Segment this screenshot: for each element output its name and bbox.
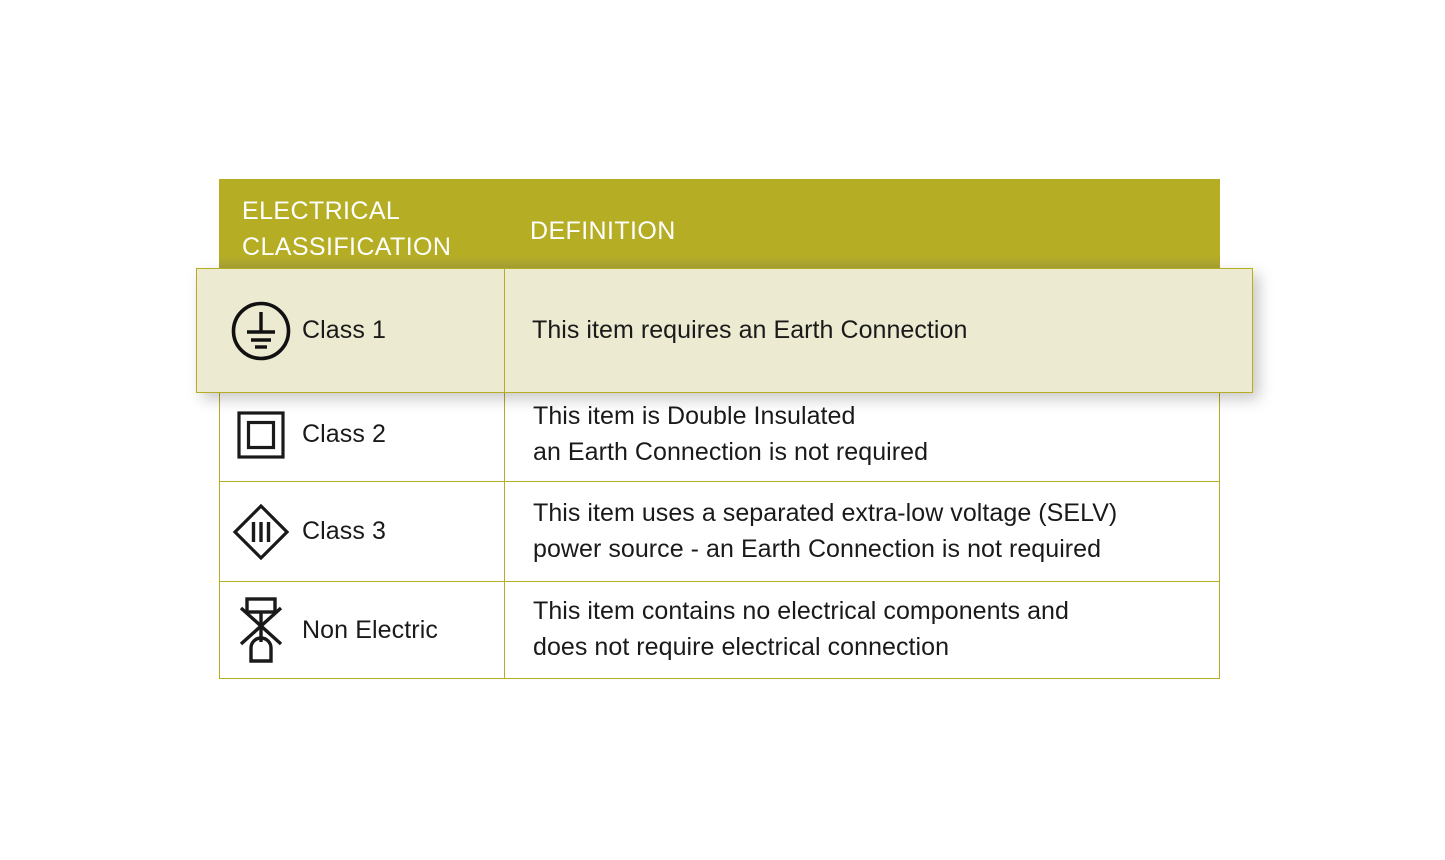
definition-text: This item is Double Insulated an Earth C… xyxy=(533,399,928,471)
classification-label: Class 2 xyxy=(302,420,386,449)
cell-definition: This item uses a separated extra-low vol… xyxy=(505,482,1219,581)
table-row-highlighted[interactable]: Class 1 This item requires an Earth Conn… xyxy=(196,268,1253,393)
cell-classification: Non Electric xyxy=(220,582,505,678)
non-electric-crossed-plug-icon xyxy=(220,596,302,664)
classification-label: Class 3 xyxy=(302,517,386,546)
table-header-row: ELECTRICAL CLASSIFICATION DEFINITION xyxy=(219,179,1220,268)
table-row[interactable]: Non Electric This item contains no elect… xyxy=(220,582,1219,678)
column-header-definition: DEFINITION xyxy=(530,213,676,249)
cell-definition: This item contains no electrical compone… xyxy=(505,582,1219,678)
column-header-classification: ELECTRICAL CLASSIFICATION xyxy=(242,193,451,265)
definition-text: This item contains no electrical compone… xyxy=(533,594,1069,666)
cell-classification: Class 3 xyxy=(220,482,505,581)
double-square-insulated-icon xyxy=(220,410,302,460)
cell-definition: This item is Double Insulated an Earth C… xyxy=(505,388,1219,481)
earth-ground-circle-icon xyxy=(220,300,302,362)
definition-text: This item uses a separated extra-low vol… xyxy=(533,496,1117,568)
diamond-three-bars-icon xyxy=(220,503,302,561)
electrical-classification-table: ELECTRICAL CLASSIFICATION DEFINITION Cla… xyxy=(219,179,1220,679)
table-row[interactable]: Class 2 This item is Double Insulated an… xyxy=(220,388,1219,482)
definition-text: This item requires an Earth Connection xyxy=(532,313,967,349)
cell-classification: Class 2 xyxy=(220,388,505,481)
table-row[interactable]: Class 3 This item uses a separated extra… xyxy=(220,482,1219,582)
classification-label: Non Electric xyxy=(302,616,438,645)
cell-definition: This item requires an Earth Connection xyxy=(505,269,1252,392)
classification-label: Class 1 xyxy=(302,316,386,345)
cell-classification: Class 1 xyxy=(197,269,505,392)
